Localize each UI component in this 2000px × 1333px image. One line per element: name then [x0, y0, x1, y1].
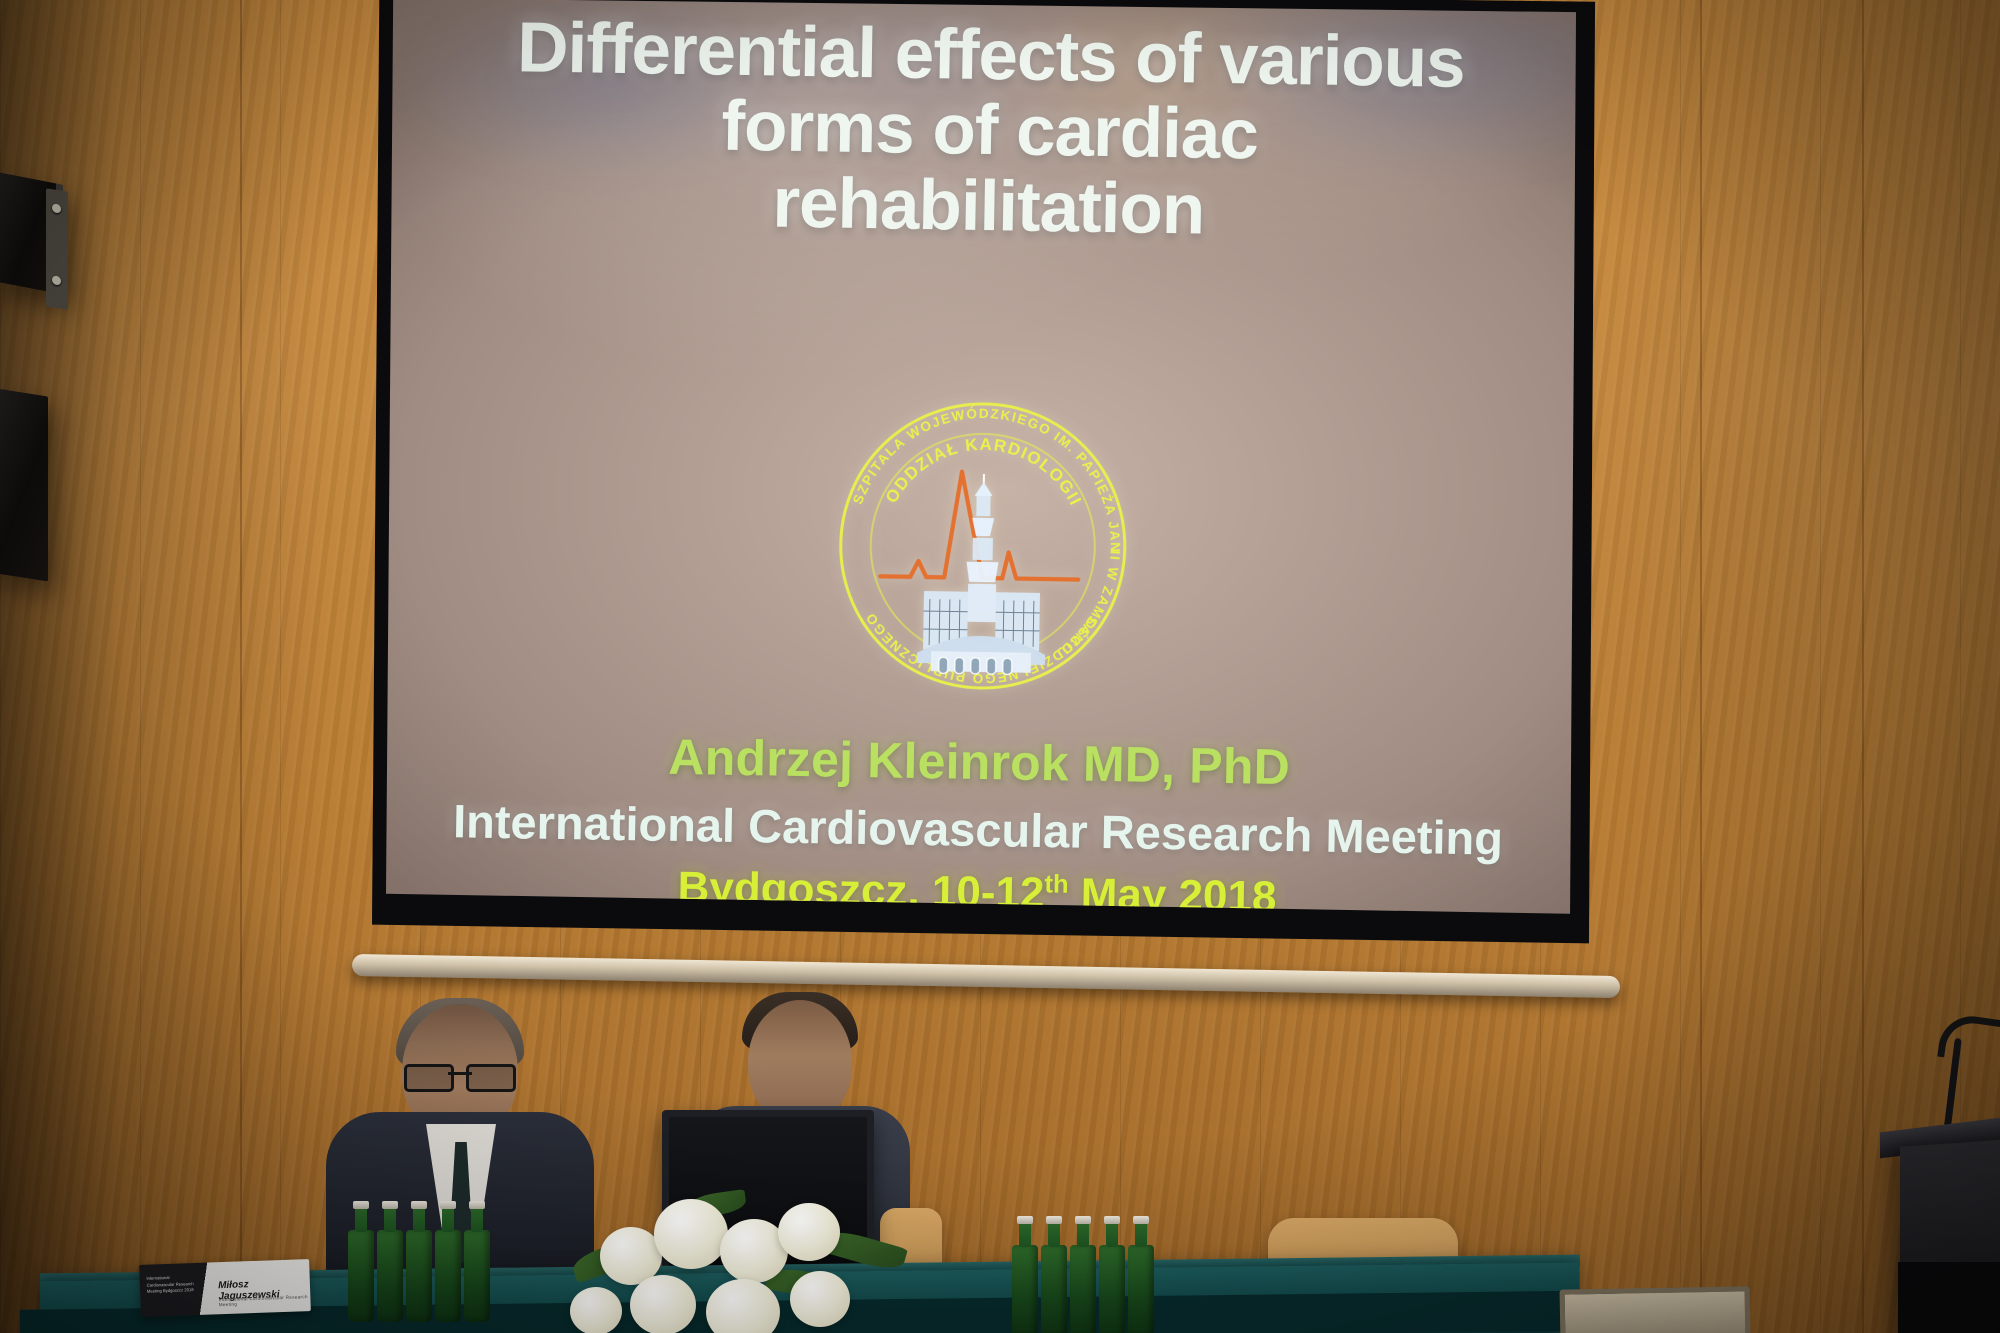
slide-meeting-name: International Cardiovascular Research Me… [380, 792, 1577, 867]
table-sign-frame [1560, 1286, 1751, 1333]
wall-seam [1700, 0, 1702, 1333]
flower-centrepiece [570, 1175, 910, 1333]
lectern-base [1898, 1262, 2000, 1333]
presentation-slide: Differential effects of various forms of… [378, 0, 1590, 958]
projection-screen: Differential effects of various forms of… [372, 0, 1600, 974]
eyeglasses-icon [404, 1064, 516, 1086]
water-bottle [1099, 1245, 1125, 1333]
wall-seam [240, 0, 242, 1333]
water-bottle [406, 1230, 432, 1322]
name-plate-org: International Cardiovascular Research Me… [146, 1274, 198, 1294]
slide-title-line1: Differential effects of various [517, 8, 1466, 103]
water-bottle [435, 1230, 461, 1322]
name-plate-subtitle: International Cardiovascular Research Me… [219, 1294, 311, 1307]
white-rose [778, 1203, 840, 1261]
water-bottle [1070, 1245, 1096, 1333]
water-bottle [1128, 1245, 1154, 1333]
screen-surface: Differential effects of various forms of… [386, 0, 1582, 948]
wall-speaker-lower-icon [0, 387, 48, 581]
water-bottle [464, 1230, 490, 1322]
water-bottle [377, 1230, 403, 1322]
slide-title: Differential effects of various forms of… [390, 8, 1590, 254]
white-rose [630, 1275, 696, 1333]
conference-hall-photo: Differential effects of various forms of… [0, 0, 2000, 1333]
water-bottles-left [348, 1222, 490, 1322]
white-rose [790, 1271, 850, 1327]
hospital-logo: SZPITALA WOJEWÓDZKIEGO IM. PAPIEŻA JANA … [830, 394, 1135, 699]
name-plate: International Cardiovascular Research Me… [139, 1259, 311, 1317]
water-bottle [1012, 1245, 1038, 1333]
slide-speaker-name: Andrzej Kleinrok MD, PhD [381, 723, 1578, 801]
white-rose [570, 1287, 622, 1333]
speaker-bracket [46, 188, 68, 309]
wall-seam [1862, 0, 1864, 1333]
water-bottle [348, 1230, 374, 1322]
slide-date-ordinal: th [1044, 870, 1069, 898]
water-bottle [1041, 1245, 1067, 1333]
white-rose [654, 1199, 728, 1269]
water-bottles-right [1012, 1238, 1154, 1333]
